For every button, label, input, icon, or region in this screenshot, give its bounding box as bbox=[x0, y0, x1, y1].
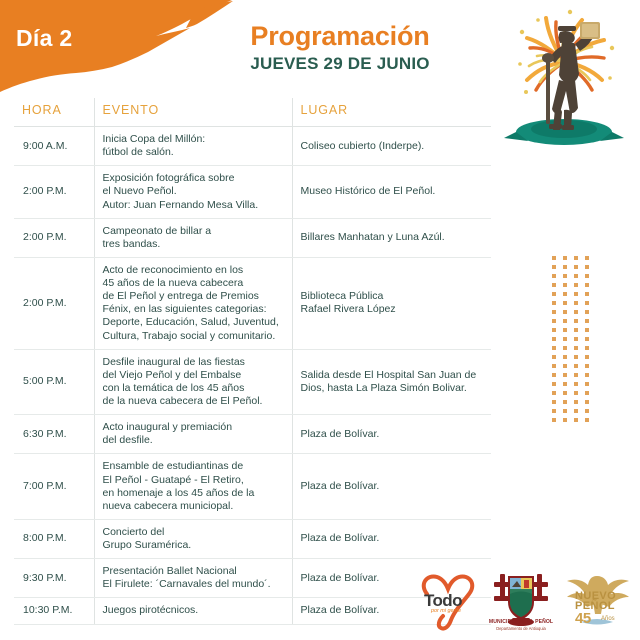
cell-hora: 7:00 P.M. bbox=[14, 454, 94, 520]
cell-evento: Presentación Ballet NacionalEl Firulete:… bbox=[94, 559, 292, 598]
lugar-line: Salida desde El Hospital San Juan de bbox=[301, 369, 486, 382]
cell-hora: 6:30 P.M. bbox=[14, 415, 94, 454]
lugar-line: Billares Manhatan y Luna Azúl. bbox=[301, 231, 486, 244]
table-row: 2:00 P.M.Acto de reconocimiento en los45… bbox=[14, 257, 491, 349]
cell-evento: Campeonato de billar atres bandas. bbox=[94, 218, 292, 257]
evento-line: en homenaje a los 45 años de la bbox=[103, 487, 286, 500]
schedule-table-body: 9:00 A.M.Inicia Copa del Millón:fútbol d… bbox=[14, 127, 491, 625]
statue-held-block bbox=[580, 22, 600, 39]
evento-line: nueva cabecera municiopal. bbox=[103, 500, 286, 513]
table-row: 5:00 P.M.Desfile inaugural de las fiesta… bbox=[14, 349, 491, 415]
logo-todo-tagline: por mi gente bbox=[431, 608, 461, 614]
logo-nuevo-line4: Años bbox=[601, 616, 615, 622]
table-row: 7:00 P.M.Ensamble de estudiantinas deEl … bbox=[14, 454, 491, 520]
logo-nuevo-line3: 45 bbox=[575, 610, 591, 627]
page-title: Programación bbox=[160, 22, 520, 50]
evento-line: Autor: Juan Fernando Mesa Villa. bbox=[103, 199, 286, 212]
statue-figure bbox=[549, 26, 595, 130]
table-row: 6:30 P.M.Acto inaugural y premiacióndel … bbox=[14, 415, 491, 454]
evento-line: Fénix, en las siguientes categorias: bbox=[103, 303, 286, 316]
evento-line: Ensamble de estudiantinas de bbox=[103, 460, 286, 473]
cell-evento: Ensamble de estudiantinas deEl Peñol - G… bbox=[94, 454, 292, 520]
cell-evento: Acto de reconocimiento en los45 años de … bbox=[94, 257, 292, 349]
evento-line: tres bandas. bbox=[103, 238, 286, 251]
table-row: 2:00 P.M.Campeonato de billar atres band… bbox=[14, 218, 491, 257]
footer-logos: Todo por mi gente MUNICIPIO DE EL PEÑOL … bbox=[415, 564, 633, 634]
cell-evento: Desfile inaugural de las fiestasdel Viej… bbox=[94, 349, 292, 415]
cell-evento: Concierto delGrupo Suramérica. bbox=[94, 519, 292, 558]
lugar-line: Plaza de Bolívar. bbox=[301, 480, 486, 493]
logo-municipio-line1: MUNICIPIO DE EL PEÑOL bbox=[486, 619, 556, 625]
evento-line: Deporte, Educación, Salud, Juventud, bbox=[103, 316, 286, 329]
cell-hora: 9:30 P.M. bbox=[14, 559, 94, 598]
cell-lugar: Plaza de Bolívar. bbox=[292, 454, 491, 520]
lugar-line: Plaza de Bolívar. bbox=[301, 532, 486, 545]
evento-line: Presentación Ballet Nacional bbox=[103, 565, 286, 578]
cell-hora: 2:00 P.M. bbox=[14, 257, 94, 349]
evento-line: Inicia Copa del Millón: bbox=[103, 133, 286, 146]
header: Programación JUEVES 29 DE JUNIO bbox=[160, 22, 520, 74]
cell-hora: 5:00 P.M. bbox=[14, 349, 94, 415]
cell-lugar: Museo Histórico de El Peñol. bbox=[292, 166, 491, 218]
page-subtitle: JUEVES 29 DE JUNIO bbox=[160, 54, 520, 74]
evento-line: El Firulete: ´Carnavales del mundo´. bbox=[103, 578, 286, 591]
column-header-evento: EVENTO bbox=[94, 98, 292, 127]
day-badge-label: Día 2 bbox=[16, 25, 72, 52]
evento-line: del desfile. bbox=[103, 434, 286, 447]
evento-line: El Peñol - Guatapé - El Retiro, bbox=[103, 474, 286, 487]
cell-lugar: Billares Manhatan y Luna Azúl. bbox=[292, 218, 491, 257]
evento-line: Grupo Suramérica. bbox=[103, 539, 286, 552]
evento-line: del Viejo Peñol y del Embalse bbox=[103, 369, 286, 382]
logo-todo-por-mi-gente: Todo por mi gente bbox=[415, 572, 481, 634]
evento-line: Juegos pirotécnicos. bbox=[103, 604, 286, 617]
evento-line: Cultura, Trabajo social y comunitario. bbox=[103, 330, 286, 343]
lugar-line: Plaza de Bolívar. bbox=[301, 428, 486, 441]
statue-pedestal bbox=[504, 119, 624, 145]
evento-line: Campeonato de billar a bbox=[103, 225, 286, 238]
column-header-hora: HORA bbox=[14, 98, 94, 127]
cell-lugar: Biblioteca PúblicaRafael Rivera López bbox=[292, 257, 491, 349]
table-header-row: HORA EVENTO LUGAR bbox=[14, 98, 491, 127]
column-header-lugar: LUGAR bbox=[292, 98, 491, 127]
logo-municipio-line2: Departamento de Antioquia bbox=[486, 626, 556, 631]
cell-evento: Acto inaugural y premiacióndel desfile. bbox=[94, 415, 292, 454]
evento-line: Acto de reconocimiento en los bbox=[103, 264, 286, 277]
evento-line: fútbol de salón. bbox=[103, 146, 286, 159]
evento-line: Concierto del bbox=[103, 526, 286, 539]
evento-line: Acto inaugural y premiación bbox=[103, 421, 286, 434]
dot-grid-decoration bbox=[550, 254, 594, 426]
lugar-line: Dios, hasta La Plaza Simón Bolivar. bbox=[301, 382, 486, 395]
table-row: 2:00 P.M.Exposición fotográfica sobreel … bbox=[14, 166, 491, 218]
evento-line: Exposición fotográfica sobre bbox=[103, 172, 286, 185]
lugar-line: Coliseo cubierto (Inderpe). bbox=[301, 140, 486, 153]
evento-line: 45 años de la nueva cabecera bbox=[103, 277, 286, 290]
cell-lugar: Coliseo cubierto (Inderpe). bbox=[292, 127, 491, 166]
cell-lugar: Salida desde El Hospital San Juan deDios… bbox=[292, 349, 491, 415]
cell-hora: 10:30 P.M. bbox=[14, 598, 94, 624]
table-row: 8:00 P.M.Concierto delGrupo Suramérica.P… bbox=[14, 519, 491, 558]
cell-lugar: Plaza de Bolívar. bbox=[292, 519, 491, 558]
evento-line: de la nueva cabecera de El Peñol. bbox=[103, 395, 286, 408]
cell-evento: Juegos pirotécnicos. bbox=[94, 598, 292, 624]
logo-municipio-el-penol: MUNICIPIO DE EL PEÑOL Departamento de An… bbox=[486, 568, 556, 634]
evento-line: el Nuevo Peñol. bbox=[103, 185, 286, 198]
statue-staff bbox=[542, 53, 554, 124]
table-row: 9:00 A.M.Inicia Copa del Millón:fútbol d… bbox=[14, 127, 491, 166]
schedule-table: HORA EVENTO LUGAR 9:00 A.M.Inicia Copa d… bbox=[14, 98, 491, 625]
logo-nuevo-penol-45: NUEVO PEÑOL 45 Años bbox=[561, 570, 633, 634]
evento-line: con la temática de los 45 años bbox=[103, 382, 286, 395]
evento-line: Desfile inaugural de las fiestas bbox=[103, 356, 286, 369]
lugar-line: Rafael Rivera López bbox=[301, 303, 486, 316]
fireworks-burst bbox=[518, 10, 614, 94]
cell-evento: Exposición fotográfica sobreel Nuevo Peñ… bbox=[94, 166, 292, 218]
evento-line: de El Peñol y entrega de Premios bbox=[103, 290, 286, 303]
cell-hora: 9:00 A.M. bbox=[14, 127, 94, 166]
cell-lugar: Plaza de Bolívar. bbox=[292, 415, 491, 454]
lugar-line: Biblioteca Pública bbox=[301, 290, 486, 303]
cell-hora: 8:00 P.M. bbox=[14, 519, 94, 558]
cell-hora: 2:00 P.M. bbox=[14, 166, 94, 218]
lugar-line: Museo Histórico de El Peñol. bbox=[301, 185, 486, 198]
cell-hora: 2:00 P.M. bbox=[14, 218, 94, 257]
cell-evento: Inicia Copa del Millón:fútbol de salón. bbox=[94, 127, 292, 166]
